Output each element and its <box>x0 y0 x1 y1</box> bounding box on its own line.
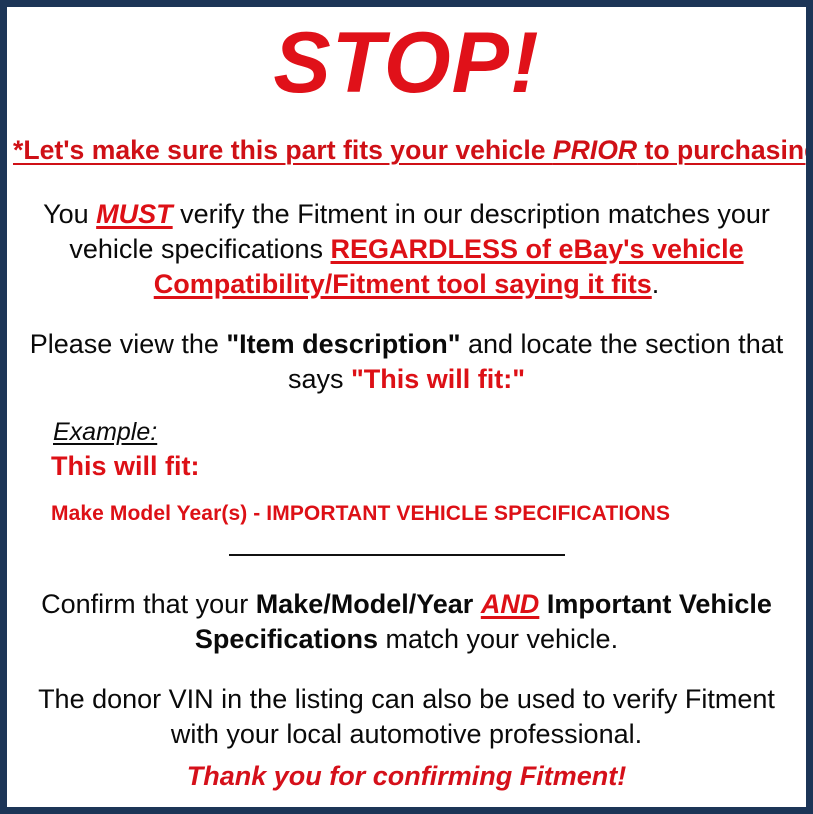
example-fit-header: This will fit: <box>51 450 200 483</box>
confirm-seg3 <box>539 589 547 619</box>
please-seg1: Please view the <box>30 329 227 359</box>
vin-paragraph: The donor VIN in the listing can also be… <box>29 682 784 752</box>
tagline: *Let's make sure this part fits your veh… <box>13 133 800 167</box>
notice-content: STOP! *Let's make sure this part fits yo… <box>7 7 806 807</box>
make-model-year-emphasis: Make/Model/Year <box>256 589 474 619</box>
tagline-emphasis-prior: PRIOR <box>553 135 637 165</box>
must-seg1: You <box>43 199 96 229</box>
confirm-seg1: Confirm that your <box>41 589 256 619</box>
must-seg3: . <box>652 269 660 299</box>
this-will-fit-emphasis: "This will fit:" <box>351 364 525 394</box>
fitment-notice-banner: STOP! *Let's make sure this part fits yo… <box>0 0 813 814</box>
confirm-seg2 <box>473 589 481 619</box>
must-verify-paragraph: You MUST verify the Fitment in our descr… <box>29 197 784 302</box>
and-emphasis: AND <box>481 589 540 619</box>
confirm-paragraph: Confirm that your Make/Model/Year AND Im… <box>29 587 784 657</box>
tagline-before: *Let's make sure this part fits your veh… <box>13 135 553 165</box>
confirm-seg4: match your vehicle. <box>378 624 618 654</box>
tagline-after: to purchasing* <box>637 135 813 165</box>
item-description-emphasis: "Item description" <box>226 329 460 359</box>
thanks-line: Thank you for confirming Fitment! <box>7 759 806 793</box>
please-view-paragraph: Please view the "Item description" and l… <box>29 327 784 397</box>
must-emphasis: MUST <box>96 199 173 229</box>
example-label: Example: <box>53 417 157 447</box>
example-spec-line: Make Model Year(s) - IMPORTANT VEHICLE S… <box>51 500 670 527</box>
section-divider <box>229 554 565 556</box>
stop-heading: STOP! <box>7 15 806 111</box>
